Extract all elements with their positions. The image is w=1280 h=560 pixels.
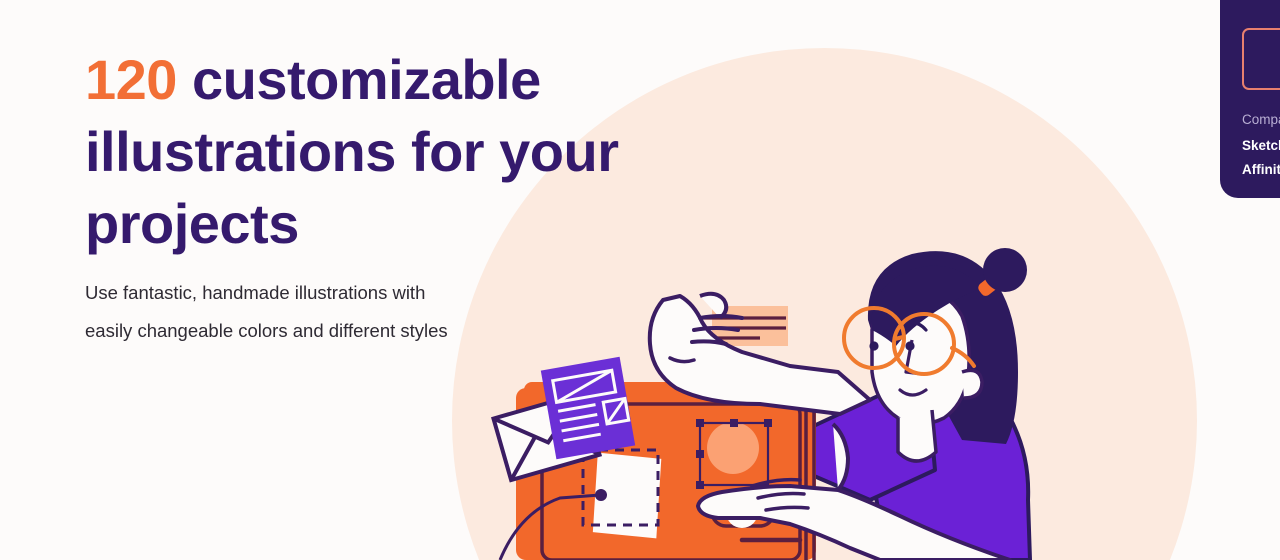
compat-app-affinity: Affinity Designer	[1242, 162, 1280, 177]
hero-landing-page: 120 customizable illustrations for your …	[0, 0, 1280, 560]
compatibility-card[interactable]: Compatible with Sketch Affinity Designer	[1220, 0, 1280, 198]
illustration-count: 120	[85, 48, 177, 111]
compat-app-sketch: Sketch	[1242, 138, 1280, 153]
compatibility-label: Compatible with	[1242, 112, 1280, 127]
preview-thumbnail-box[interactable]	[1242, 28, 1280, 90]
subcopy-line-1: Use fantastic, handmade illustrations wi…	[85, 282, 425, 303]
page-title: 120 customizable illustrations for your …	[85, 44, 645, 260]
hero-copy: 120 customizable illustrations for your …	[85, 44, 645, 350]
hero-subcopy: Use fantastic, handmade illustrations wi…	[85, 274, 645, 350]
subcopy-line-2: easily changeable colors and different s…	[85, 320, 448, 341]
